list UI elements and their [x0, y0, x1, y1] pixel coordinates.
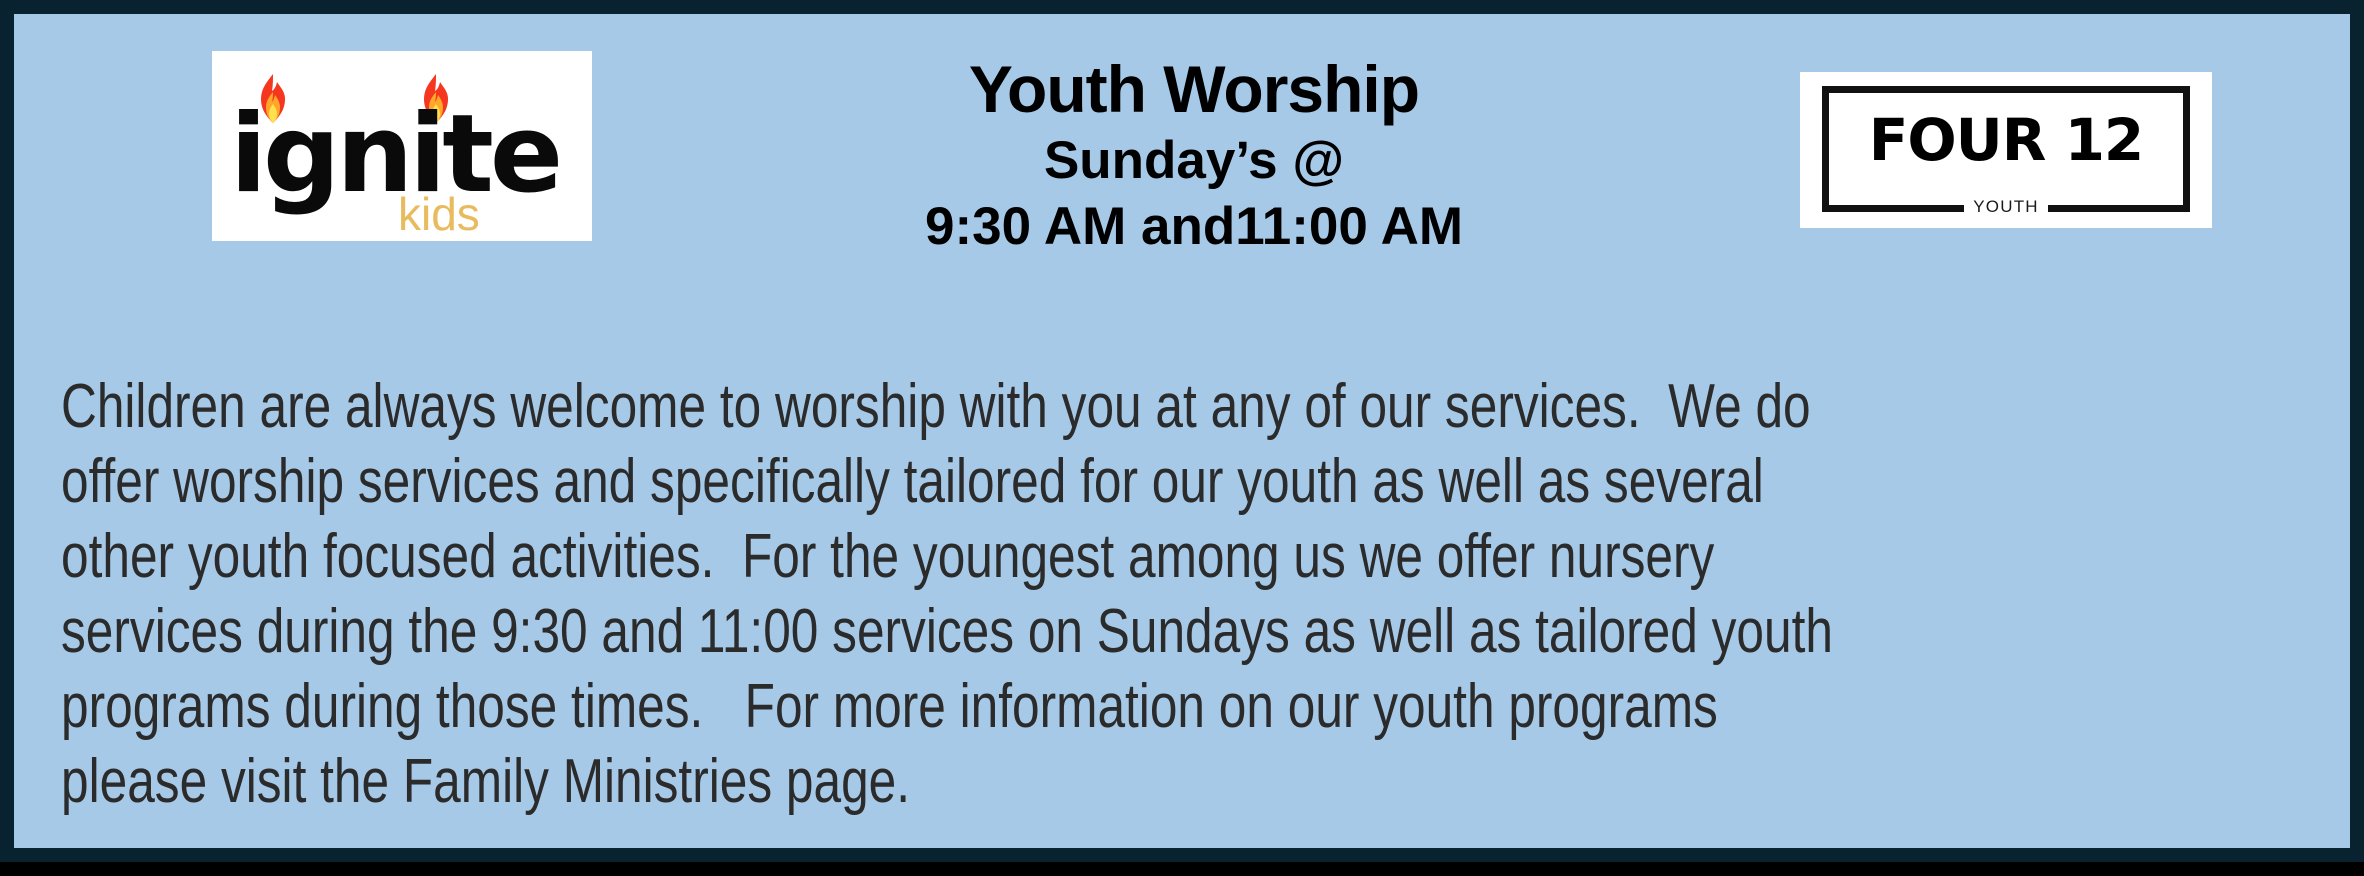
four12-youth-sublabel: YOUTH [1964, 197, 2048, 217]
banner-top-row: ignite kids Youth Worship Sunday’s @ 9:3… [14, 14, 2350, 359]
heading-title: Youth Worship [674, 50, 1714, 128]
heading-schedule-day: Sunday’s @ [674, 128, 1714, 194]
body-line: other youth focused activities. For the … [61, 519, 1861, 594]
ignite-wordmark-group: ignite kids [230, 73, 574, 223]
banner-inner: ignite kids Youth Worship Sunday’s @ 9:3… [14, 14, 2350, 848]
banner-body-paragraph: Children are always welcome to worship w… [61, 369, 2311, 819]
heading-schedule-times: 9:30 AM and11:00 AM [674, 194, 1714, 260]
four12-sublabel-wrap: YOUTH [1829, 197, 2183, 217]
body-line-last: please visit the Family Ministries page. [61, 744, 1861, 819]
body-last-prefix: please visit the [61, 747, 403, 816]
body-line: services during the 9:30 and 11:00 servi… [61, 594, 1861, 669]
body-line: programs during those times. For more in… [61, 669, 1861, 744]
four12-wordmark-text: FOUR 12 [1829, 111, 2183, 169]
body-last-suffix: page. [772, 747, 910, 816]
four12-logo-frame: FOUR 12 YOUTH [1822, 86, 2190, 212]
youth-worship-banner: ignite kids Youth Worship Sunday’s @ 9:3… [0, 0, 2364, 862]
ignite-kids-sublabel: kids [398, 191, 480, 237]
four12-youth-logo: FOUR 12 YOUTH [1800, 72, 2212, 228]
body-line: offer worship services and specifically … [61, 444, 1861, 519]
bottom-black-strip [0, 862, 2364, 876]
ignite-wordmark-text: ignite [230, 101, 559, 209]
body-line: Children are always welcome to worship w… [61, 369, 1861, 444]
banner-heading: Youth Worship Sunday’s @ 9:30 AM and11:0… [674, 50, 1714, 260]
family-ministries-link[interactable]: Family Ministries [403, 747, 772, 816]
ignite-kids-logo: ignite kids [212, 51, 592, 241]
